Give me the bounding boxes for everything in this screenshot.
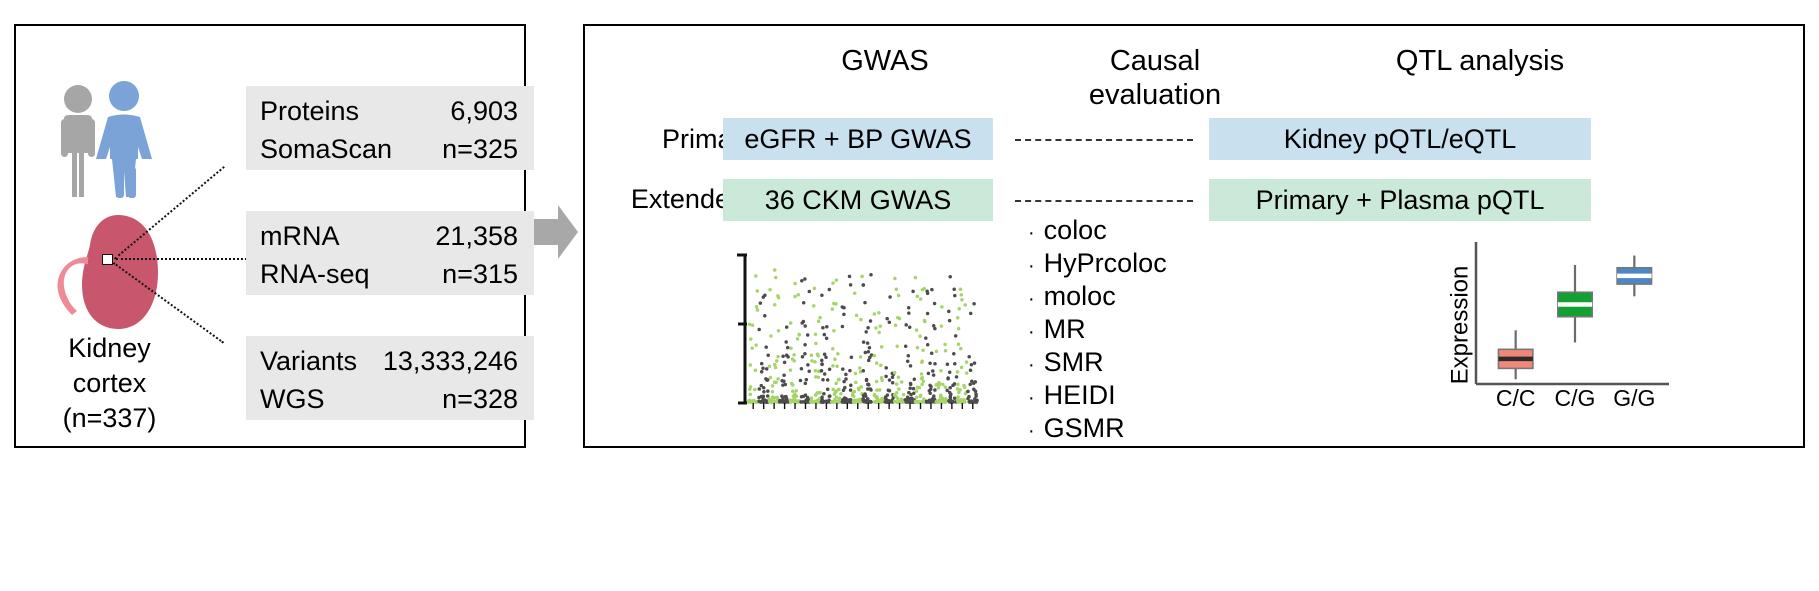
row-label: Variants — [260, 342, 357, 380]
bullet-icon: · — [1028, 218, 1035, 248]
pill-qtl-extended[interactable]: Primary + Plasma pQTL — [1209, 179, 1591, 221]
row-label: WGS — [260, 380, 325, 418]
list-item-label: moloc — [1044, 281, 1116, 311]
kidney-caption: Kidney cortex (n=337) — [32, 331, 187, 436]
table-row: mRNA 21,358 — [260, 217, 518, 255]
pill-gwas-primary[interactable]: eGFR + BP GWAS — [723, 118, 993, 160]
table-row: SomaScan n=325 — [260, 130, 518, 168]
column-title-qtl: QTL analysis — [1280, 44, 1680, 78]
bullet-icon: · — [1028, 251, 1035, 281]
row-value: 6,903 — [450, 92, 518, 130]
figure-canvas: Kidney cortex (n=337) Proteins 6,903 Som… — [0, 0, 1819, 591]
data-box-variants: Variants 13,333,246 WGS n=328 — [246, 336, 534, 420]
list-item: · GSMR — [1028, 413, 1258, 446]
causal-methods-list: · coloc · HyPrcoloc · moloc · MR · SMR ·… — [1028, 215, 1258, 446]
row-value: 21,358 — [435, 217, 518, 255]
table-row: WGS n=328 — [260, 380, 518, 418]
caption-line-3: (n=337) — [32, 401, 187, 436]
connector-mrna — [116, 258, 247, 260]
bullet-icon: · — [1028, 416, 1035, 446]
row-value: n=325 — [442, 130, 518, 168]
data-box-mrna: mRNA 21,358 RNA-seq n=315 — [246, 211, 534, 295]
cohort-panel: Kidney cortex (n=337) Proteins 6,903 Som… — [14, 24, 526, 448]
bullet-icon: · — [1028, 350, 1035, 380]
people-icon — [48, 81, 168, 201]
list-item: · coloc — [1028, 215, 1258, 248]
cortex-sampling-marker — [102, 254, 113, 265]
table-row: Variants 13,333,246 — [260, 342, 518, 380]
row-label: mRNA — [260, 217, 340, 255]
bullet-icon: · — [1028, 383, 1035, 413]
boxplot-x-tick: G/G — [1613, 385, 1655, 411]
list-item-label: coloc — [1044, 215, 1107, 245]
list-item-label: MR — [1044, 314, 1086, 344]
manhattan-plot — [735, 252, 980, 414]
pill-qtl-primary[interactable]: Kidney pQTL/eQTL — [1209, 118, 1591, 160]
row-value: n=315 — [442, 255, 518, 293]
row-value: n=328 — [442, 380, 518, 418]
data-box-proteins: Proteins 6,903 SomaScan n=325 — [246, 86, 534, 170]
bullet-icon: · — [1028, 284, 1035, 314]
row-label-extended: Extended — [585, 182, 745, 216]
row-label: SomaScan — [260, 130, 392, 168]
boxplot-x-tick: C/C — [1496, 385, 1536, 411]
table-row: Proteins 6,903 — [260, 92, 518, 130]
bullet-icon: · — [1028, 317, 1035, 347]
table-row: RNA-seq n=315 — [260, 255, 518, 293]
list-item: · MR — [1028, 314, 1258, 347]
list-item: · HEIDI — [1028, 380, 1258, 413]
link-line-extended — [1015, 200, 1193, 202]
list-item-label: HyPrcoloc — [1044, 248, 1167, 278]
causal-title-line-1: Causal — [1040, 44, 1270, 78]
list-item: · HyPrcoloc — [1028, 248, 1258, 281]
list-item: · SMR — [1028, 347, 1258, 380]
causal-title-line-2: evaluation — [1040, 78, 1270, 112]
list-item-label: HEIDI — [1044, 380, 1116, 410]
row-label: Proteins — [260, 92, 359, 130]
boxplot-x-tick: C/G — [1555, 385, 1596, 411]
list-item: · moloc — [1028, 281, 1258, 314]
list-item-label: SMR — [1044, 347, 1104, 377]
column-title-causal: Causal evaluation — [1040, 44, 1270, 112]
row-label: RNA-seq — [260, 255, 370, 293]
caption-line-1: Kidney — [32, 331, 187, 366]
right-arrow-icon — [534, 205, 578, 259]
column-title-gwas: GWAS — [740, 44, 1030, 78]
list-item-label: GSMR — [1044, 413, 1125, 443]
caption-line-2: cortex — [32, 366, 187, 401]
link-line-primary — [1015, 139, 1193, 141]
row-value: 13,333,246 — [383, 342, 518, 380]
eqtl-boxplot: C/CC/GG/G — [1464, 240, 1679, 420]
pill-gwas-extended[interactable]: 36 CKM GWAS — [723, 179, 993, 221]
